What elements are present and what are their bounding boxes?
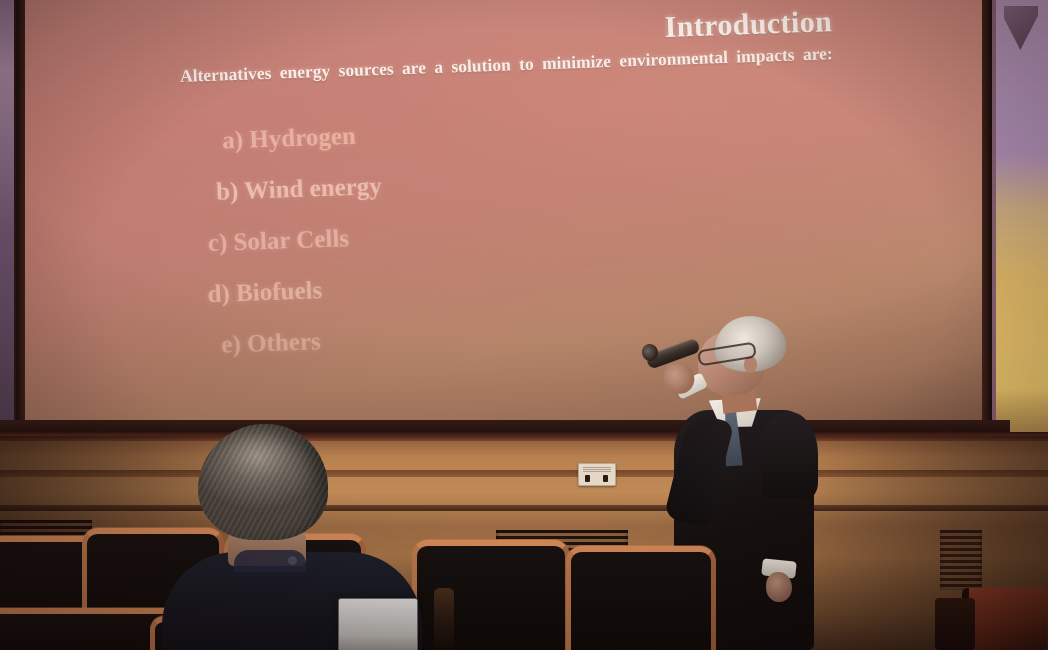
shirt-button-icon <box>288 556 297 565</box>
slide-list-item: d) Biofuels <box>207 264 726 307</box>
slide-list-marker: d) <box>207 280 230 308</box>
lecture-hall-photo: Introduction Alternatives energy sources… <box>0 0 1048 650</box>
wooden-chair <box>962 588 1047 650</box>
auditorium-seat <box>566 546 716 650</box>
laptop <box>338 598 418 650</box>
slide-list-marker: b) <box>216 178 239 206</box>
slide-list-item: c) Solar Cells <box>207 213 724 256</box>
presenter-shoulder <box>762 412 818 498</box>
screen-left-edge <box>16 0 25 436</box>
outlet-socket-icon <box>603 475 608 482</box>
slide-list-label: Solar Cells <box>233 225 349 256</box>
screen-right-edge <box>982 0 992 452</box>
projection-screen: Introduction Alternatives energy sources… <box>20 0 986 424</box>
presenter-hand <box>766 572 792 602</box>
outlet-socket-icon <box>585 475 590 482</box>
slide-list-marker: e) <box>221 331 241 359</box>
projected-slide: Introduction Alternatives energy sources… <box>20 0 986 424</box>
slide-list-marker: c) <box>207 229 227 257</box>
slide-body-text: Alternatives energy sources are a soluti… <box>180 39 892 89</box>
bottle <box>434 588 454 650</box>
slide-list-label: Wind energy <box>244 173 383 205</box>
outlet-plate-detail <box>583 467 611 472</box>
slide-list-marker: a) <box>222 127 244 155</box>
audience-hair <box>198 424 328 540</box>
slide-list-label: Hydrogen <box>249 123 356 154</box>
right-wall-panel <box>996 0 1048 452</box>
slide-list-label: Others <box>247 328 322 358</box>
slide-list-label: Biofuels <box>236 277 323 307</box>
slide-title: Introduction <box>664 5 833 45</box>
slide-list-item: a) Hydrogen <box>222 111 721 153</box>
slide-list-item: b) Wind energy <box>216 162 723 205</box>
wall-power-outlet <box>578 463 616 486</box>
